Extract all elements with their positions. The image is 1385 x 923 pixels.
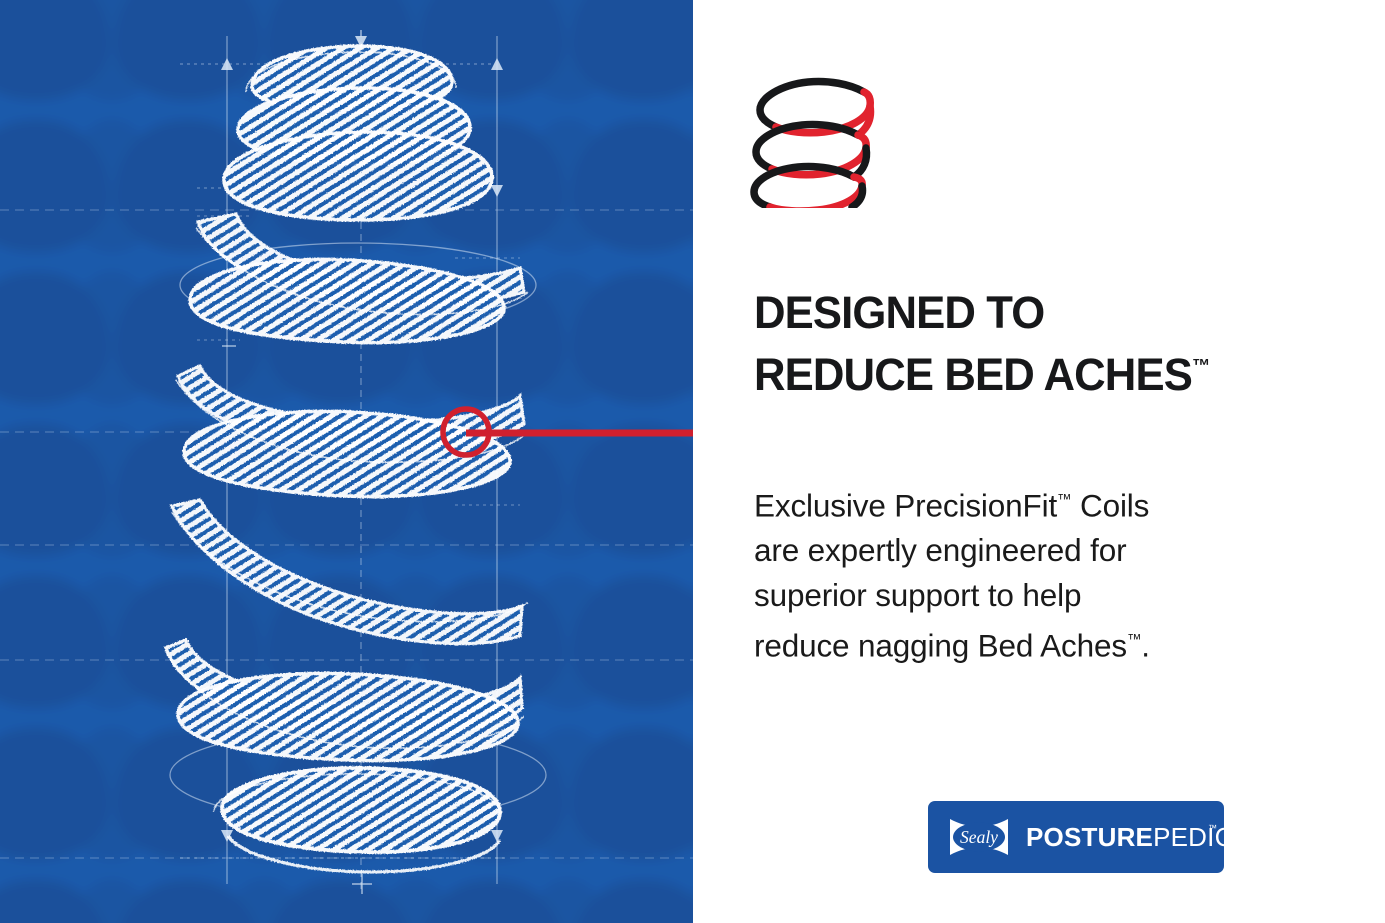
marketing-banner: DESIGNED TO REDUCE BED ACHES™ Exclusive …	[0, 0, 1385, 923]
logo-trademark: ™	[1208, 823, 1217, 833]
content-panel: DESIGNED TO REDUCE BED ACHES™ Exclusive …	[693, 0, 1385, 923]
svg-text:Sealy: Sealy	[960, 827, 998, 847]
headline-line-1: DESIGNED TO	[754, 286, 1336, 340]
body-line-1-b: Coils	[1071, 487, 1149, 523]
trademark-symbol: ™	[1127, 632, 1141, 648]
coil-spring-blueprint-sketch	[0, 0, 693, 923]
body-line-1: Exclusive PrecisionFit™ Coils	[754, 478, 1274, 528]
trademark-symbol: ™	[1192, 356, 1210, 377]
page-title: DESIGNED TO REDUCE BED ACHES™	[754, 286, 1336, 402]
trademark-symbol: ™	[1057, 492, 1071, 508]
body-line-3: superior support to help	[754, 573, 1274, 618]
body-line-4-a: reduce nagging Bed Aches	[754, 628, 1127, 664]
headline-line-2-text: REDUCE BED ACHES	[754, 349, 1192, 400]
sealy-posturepedic-logo[interactable]: Sealy POSTUREPEDIC ™	[928, 801, 1224, 873]
blueprint-panel	[0, 0, 693, 923]
body-line-4: reduce nagging Bed Aches™.	[754, 618, 1274, 668]
headline-line-2: REDUCE BED ACHES™	[754, 340, 1336, 402]
body-copy: Exclusive PrecisionFit™ Coils are expert…	[754, 478, 1274, 669]
body-line-1-a: Exclusive PrecisionFit	[754, 487, 1057, 523]
coil-spring-icon	[746, 76, 882, 208]
body-line-4-b: .	[1141, 628, 1150, 664]
sealy-bowtie-mark: Sealy	[950, 819, 1008, 855]
logo-wordmark: POSTUREPEDIC	[1026, 822, 1224, 852]
body-line-2: are expertly engineered for	[754, 528, 1274, 573]
